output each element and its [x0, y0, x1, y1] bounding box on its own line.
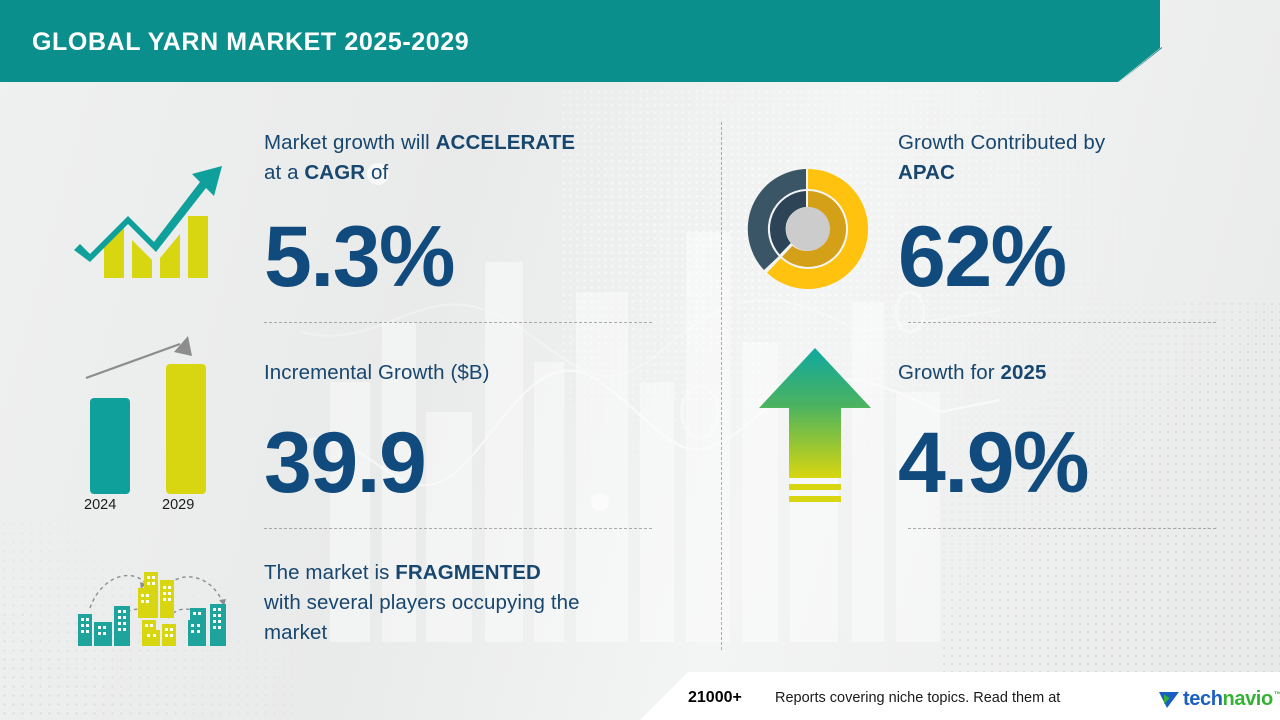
left-divider-1	[264, 322, 652, 323]
technavio-logo-navio: navio	[1223, 688, 1273, 710]
footer-report-count: 21000+	[688, 689, 742, 707]
page-title: GLOBAL YARN MARKET 2025-2029	[32, 28, 469, 57]
bar-comparison-icon	[70, 332, 230, 514]
cagr-lead-line2-bold: CAGR	[304, 161, 365, 184]
yearly-growth-prefix: Growth for	[898, 361, 1001, 384]
cagr-lead-line2-prefix: at a	[264, 161, 304, 184]
technavio-logo[interactable]: technavio™	[1158, 686, 1280, 712]
incremental-growth-label: Incremental Growth ($B)	[264, 358, 490, 388]
bar-label-2029: 2029	[162, 497, 194, 513]
right-divider-1	[908, 322, 1216, 323]
left-divider-2	[264, 528, 652, 529]
growth-chart-icon	[72, 140, 232, 280]
up-arrow-icon	[757, 346, 873, 510]
technavio-logo-text: technavio™	[1183, 688, 1280, 711]
yearly-growth-year: 2025	[1001, 361, 1047, 384]
cagr-value: 5.3%	[264, 208, 454, 307]
buildings-network-icon	[72, 558, 248, 658]
technavio-triangle-icon	[1158, 688, 1180, 710]
cagr-lead-text: Market growth will ACCELERATE at a CAGR …	[264, 128, 664, 188]
incremental-growth-value: 39.9	[264, 414, 425, 513]
trademark-icon: ™	[1274, 690, 1280, 699]
fragmentation-bold: FRAGMENTED	[395, 561, 541, 584]
apac-lead-bold: APAC	[898, 161, 955, 184]
fragmentation-text: The market is FRAGMENTED with several pl…	[264, 558, 684, 648]
yearly-growth-value: 4.9%	[898, 414, 1088, 513]
cagr-lead-prefix: Market growth will	[264, 131, 436, 154]
technavio-logo-tech: tech	[1183, 688, 1223, 710]
infographic-canvas: GLOBAL YARN MARKET 2025-2029 Market grow…	[0, 0, 1280, 720]
yearly-growth-label: Growth for 2025	[898, 358, 1047, 388]
fragmentation-prefix: The market is	[264, 561, 395, 584]
fragmentation-line3: market	[264, 621, 327, 644]
footer-tagline: Reports covering niche topics. Read them…	[775, 690, 1060, 706]
apac-contribution-value: 62%	[898, 208, 1066, 307]
fragmentation-line2: with several players occupying the	[264, 591, 580, 614]
cagr-lead-line2-suffix: of	[365, 161, 388, 184]
apac-lead-line1: Growth Contributed by	[898, 131, 1105, 154]
column-divider	[721, 122, 722, 650]
apac-lead-text: Growth Contributed by APAC	[898, 128, 1228, 188]
bar-label-2024: 2024	[84, 497, 116, 513]
donut-chart-icon	[744, 165, 872, 293]
right-divider-2	[908, 528, 1216, 529]
cagr-lead-bold: ACCELERATE	[436, 131, 576, 154]
